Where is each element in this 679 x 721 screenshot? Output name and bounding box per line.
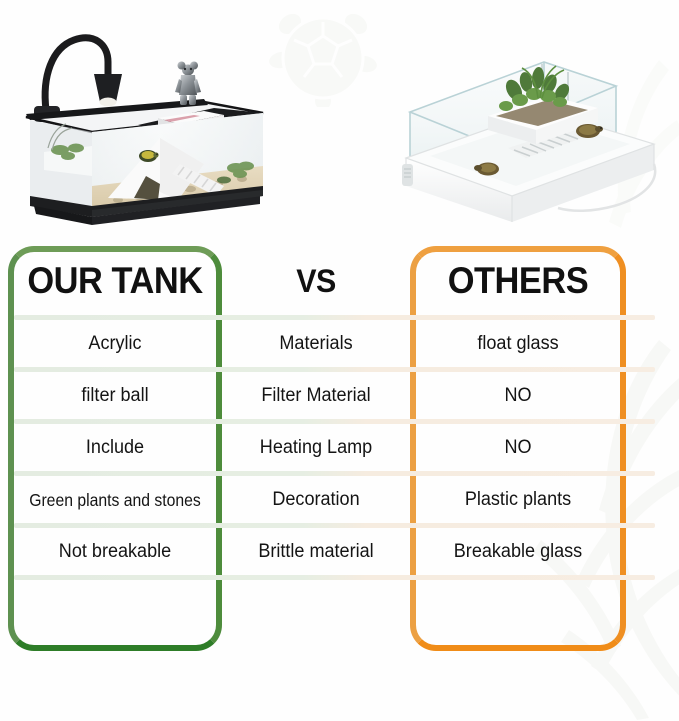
cell-our-tank: Include bbox=[17, 422, 213, 474]
product-photos bbox=[0, 0, 679, 240]
table-row: filter ball Filter Material NO bbox=[0, 370, 679, 422]
comparison-table: OUR TANK VS OTHERS Acrylic Materials flo… bbox=[0, 240, 679, 660]
cell-feature: Filter Material bbox=[227, 370, 406, 422]
table-row: Include Heating Lamp NO bbox=[0, 422, 679, 474]
cell-others: NO bbox=[419, 370, 617, 422]
cell-others: Breakable glass bbox=[419, 526, 617, 578]
table-row: Green plants and stones Decoration Plast… bbox=[0, 474, 679, 526]
row-divider bbox=[14, 575, 655, 580]
our-tank-photo bbox=[8, 14, 273, 229]
cell-others: Plastic plants bbox=[419, 474, 617, 526]
table-row: Not breakable Brittle material Breakable… bbox=[0, 526, 679, 578]
header-others: OTHERS bbox=[423, 250, 613, 312]
cell-others: NO bbox=[419, 422, 617, 474]
cell-others: float glass bbox=[419, 318, 617, 370]
cell-our-tank: Green plants and stones bbox=[22, 474, 207, 526]
cell-feature: Brittle material bbox=[227, 526, 406, 578]
table-row: Acrylic Materials float glass bbox=[0, 318, 679, 370]
cell-our-tank: filter ball bbox=[17, 370, 213, 422]
cell-feature: Heating Lamp bbox=[227, 422, 406, 474]
header-our-tank: OUR TANK bbox=[21, 250, 209, 312]
comparison-header-row: OUR TANK VS OTHERS bbox=[0, 250, 679, 312]
table-row-bottom-divider bbox=[0, 578, 679, 630]
cell-our-tank: Not breakable bbox=[17, 526, 213, 578]
cell-feature: Decoration bbox=[227, 474, 406, 526]
cell-our-tank: Acrylic bbox=[17, 318, 213, 370]
cell-feature: Materials bbox=[227, 318, 406, 370]
others-tank-photo bbox=[392, 40, 672, 230]
header-versus: VS bbox=[227, 250, 406, 312]
comparison-rows: Acrylic Materials float glass filter bal… bbox=[0, 318, 679, 630]
